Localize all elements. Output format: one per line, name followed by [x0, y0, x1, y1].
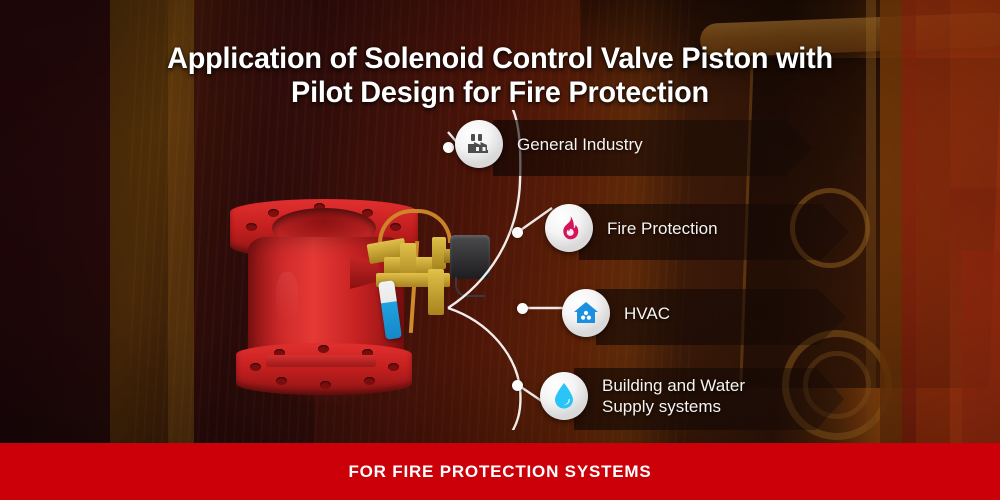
factory-icon: [455, 120, 503, 168]
application-label: HVAC: [624, 303, 670, 324]
product-image-valve: [200, 185, 490, 435]
pilot-brass-fitting-5: [428, 269, 444, 315]
application-item-hvac[interactable]: HVAC: [562, 289, 670, 337]
valve-bottom-flange: [236, 343, 412, 395]
banner-title: Application of Solenoid Control Valve Pi…: [20, 42, 980, 110]
solenoid-wire: [455, 277, 485, 297]
application-item-fire-protection[interactable]: Fire Protection: [545, 204, 718, 252]
footer-bar: FOR FIRE PROTECTION SYSTEMS: [0, 443, 1000, 500]
application-label: Fire Protection: [607, 218, 718, 239]
footer-text: FOR FIRE PROTECTION SYSTEMS: [348, 462, 651, 482]
banner-title-line-1: Application of Solenoid Control Valve Pi…: [167, 42, 833, 75]
application-item-general-industry[interactable]: General Industry: [455, 120, 643, 168]
water-drop-icon: [540, 372, 588, 420]
flame-icon: [545, 204, 593, 252]
banner-stage: Application of Solenoid Control Valve Pi…: [0, 0, 1000, 500]
application-label: Building and Water Supply systems: [602, 375, 745, 417]
valve-band-plate: [266, 355, 376, 367]
application-item-building-water-supply[interactable]: Building and Water Supply systems: [540, 372, 745, 420]
house-fan-icon: [562, 289, 610, 337]
application-label: General Industry: [517, 134, 643, 155]
solenoid-coil: [450, 235, 490, 279]
banner-title-line-2: Pilot Design for Fire Protection: [78, 76, 923, 110]
